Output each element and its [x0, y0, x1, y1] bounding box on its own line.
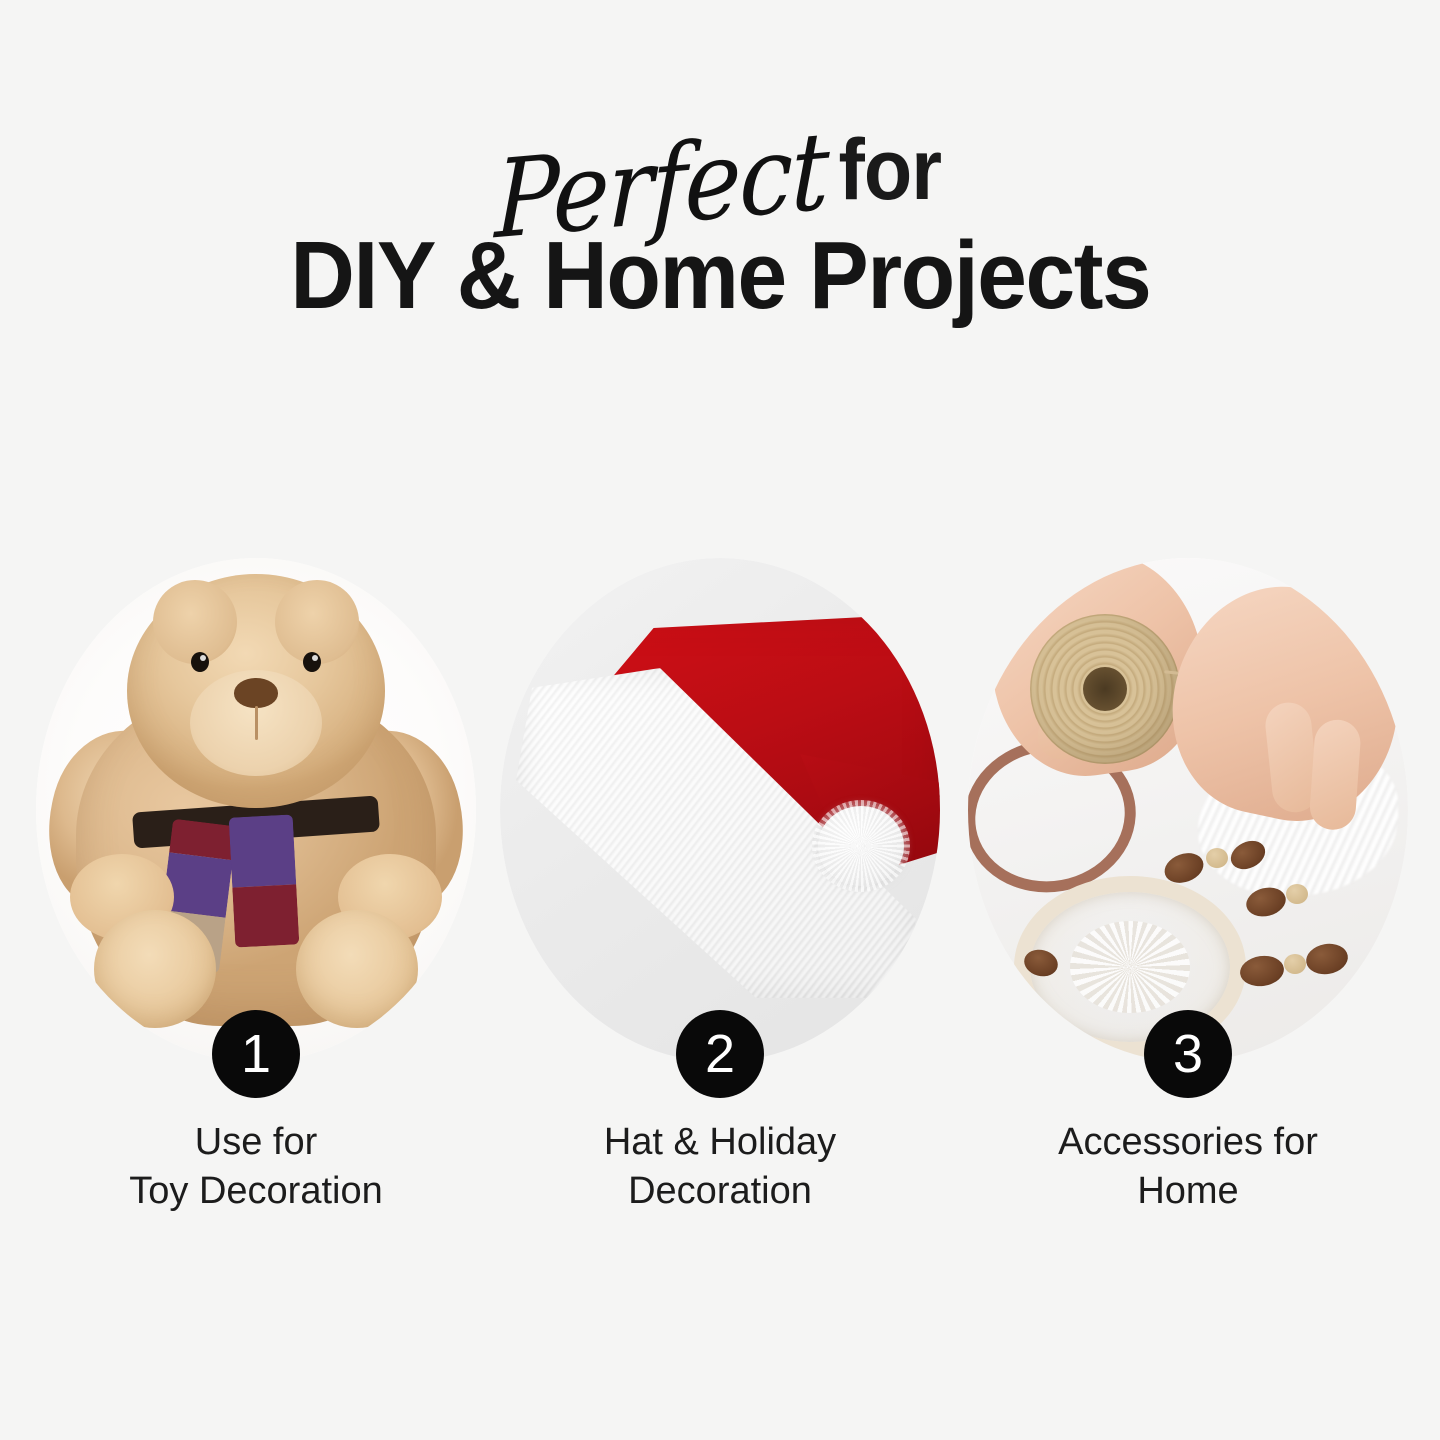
feature-card-3[interactable]: 3 Accessories for Home [962, 552, 1414, 1272]
wooden-bead [1206, 848, 1228, 868]
bear-scarf-tail-right [229, 814, 300, 947]
bear-ear-right [275, 580, 359, 664]
hat-pompom [818, 806, 904, 886]
feature-image-3 [968, 558, 1408, 1062]
feature-card-1[interactable]: 1 Use for Toy Decoration [30, 552, 482, 1272]
jute-twine-spool [1030, 614, 1180, 764]
header-section: Perfectfor DIY & Home Projects [0, 0, 1440, 400]
craft-dreamcatcher-illustration [968, 558, 1408, 1062]
heading-for-word: for [838, 127, 941, 213]
feature-caption-1: Use for Toy Decoration [30, 1118, 482, 1215]
teddy-bear-illustration [36, 558, 476, 1062]
caption-line-3b: Home [962, 1167, 1414, 1216]
bear-foot-right [296, 910, 418, 1028]
step-badge-1: 1 [212, 1010, 300, 1098]
dreamcatcher-web [1070, 921, 1190, 1013]
step-badge-number-3: 3 [1173, 1027, 1203, 1081]
bear-eye-left [191, 652, 209, 672]
bear-nose [234, 678, 278, 708]
feature-card-2[interactable]: 2 Hat & Holiday Decoration [494, 552, 946, 1272]
finger-right-2 [1308, 718, 1362, 831]
caption-line-1b: Toy Decoration [30, 1167, 482, 1216]
caption-line-3a: Accessories for [962, 1118, 1414, 1167]
feature-caption-2: Hat & Holiday Decoration [494, 1118, 946, 1215]
bear-head [127, 574, 385, 808]
page-title-text: DIY & Home Projects [290, 228, 1150, 324]
santa-hat-illustration [500, 558, 940, 1062]
caption-line-2a: Hat & Holiday [494, 1118, 946, 1167]
bear-mouth-line [255, 706, 258, 740]
feature-image-2 [500, 558, 940, 1062]
wooden-bead [1286, 884, 1308, 904]
step-badge-number-2: 2 [705, 1027, 735, 1081]
step-badge-2: 2 [676, 1010, 764, 1098]
caption-line-1a: Use for [30, 1118, 482, 1167]
bear-eye-right [303, 652, 321, 672]
bear-ear-left [153, 580, 237, 664]
feature-image-1 [36, 558, 476, 1062]
page-title: DIY & Home Projects [0, 228, 1440, 324]
bear-foot-left [94, 910, 216, 1028]
step-badge-3: 3 [1144, 1010, 1232, 1098]
caption-line-2b: Decoration [494, 1167, 946, 1216]
step-badge-number-1: 1 [241, 1027, 271, 1081]
headline-top-row: Perfectfor [0, 118, 1440, 214]
feature-caption-3: Accessories for Home [962, 1118, 1414, 1215]
wooden-bead [1284, 954, 1306, 974]
feature-cards-row: 1 Use for Toy Decoration 2 Hat & Holiday… [0, 552, 1440, 1272]
